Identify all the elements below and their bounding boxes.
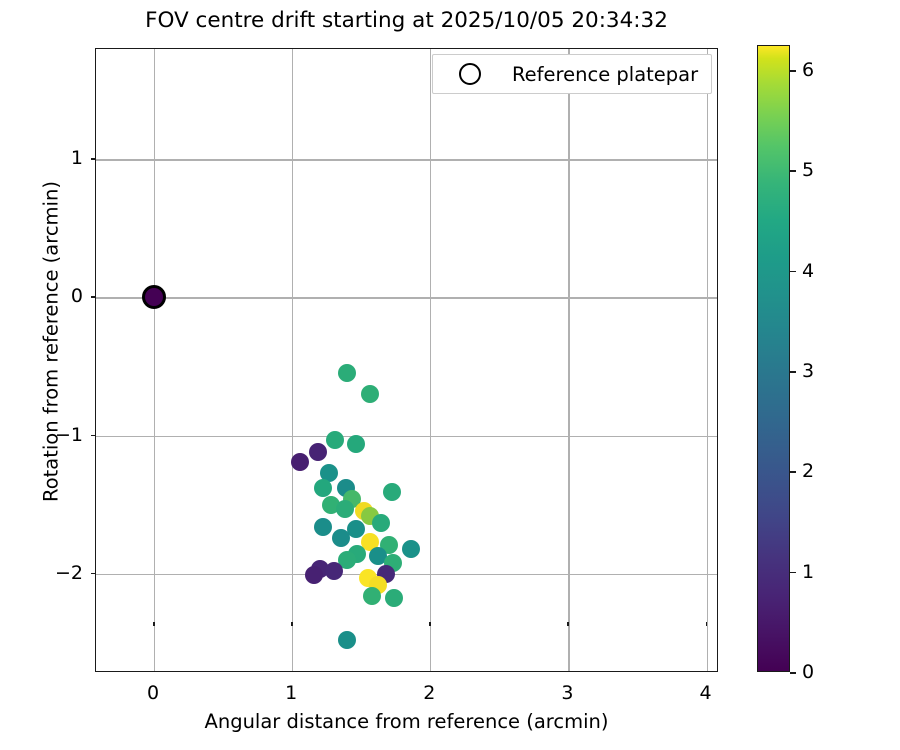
colorbar-tick-mark bbox=[790, 170, 796, 172]
chart-legend[interactable]: Reference platepar bbox=[432, 54, 712, 94]
x-tick-label: 0 bbox=[147, 682, 159, 704]
gridline-vertical bbox=[568, 49, 569, 671]
scatter-point bbox=[332, 529, 350, 547]
colorbar-tick-label: 3 bbox=[802, 360, 814, 382]
colorbar-tick-mark bbox=[790, 672, 796, 674]
chart-figure: FOV centre drift starting at 2025/10/05 … bbox=[0, 0, 900, 750]
scatter-point bbox=[338, 631, 356, 649]
x-tick-label: 2 bbox=[423, 682, 435, 704]
scatter-point bbox=[338, 364, 356, 382]
colorbar-tick-label: 1 bbox=[802, 561, 814, 583]
colorbar-tick-label: 4 bbox=[802, 260, 814, 282]
scatter-point bbox=[314, 479, 332, 497]
scatter-point bbox=[291, 453, 309, 471]
scatter-point bbox=[347, 435, 365, 453]
colorbar-tick-label: 5 bbox=[802, 159, 814, 181]
scatter-point bbox=[325, 562, 343, 580]
scatter-point bbox=[385, 589, 403, 607]
reference-platepar-marker-icon bbox=[459, 63, 481, 85]
chart-title: FOV centre drift starting at 2025/10/05 … bbox=[95, 8, 718, 33]
scatter-point bbox=[336, 500, 354, 518]
colorbar-tick-label: 6 bbox=[802, 59, 814, 81]
y-axis-label: Rotation from reference (arcmin) bbox=[40, 30, 63, 654]
gridline-vertical bbox=[430, 49, 431, 671]
scatter-point bbox=[314, 518, 332, 536]
colorbar-tick-mark bbox=[790, 70, 796, 72]
x-tick-mark bbox=[706, 622, 708, 626]
x-tick-mark bbox=[153, 622, 155, 626]
y-tick-mark bbox=[91, 573, 95, 575]
gridline-horizontal bbox=[96, 574, 717, 575]
scatter-point bbox=[363, 587, 381, 605]
colorbar-tick-mark bbox=[790, 271, 796, 273]
x-tick-label: 3 bbox=[561, 682, 573, 704]
colorbar-tick-mark bbox=[790, 471, 796, 473]
scatter-point bbox=[309, 443, 327, 461]
x-tick-label: 4 bbox=[700, 682, 712, 704]
reference-platepar-point bbox=[142, 285, 166, 309]
gridline-horizontal bbox=[96, 297, 717, 298]
y-tick-mark bbox=[91, 158, 95, 160]
colorbar-tick-label: 0 bbox=[802, 661, 814, 683]
gridline-horizontal bbox=[96, 159, 717, 160]
legend-entry-label: Reference platepar bbox=[512, 63, 698, 86]
colorbar-tick-label: 2 bbox=[802, 460, 814, 482]
colorbar: 0123456 bbox=[757, 45, 790, 672]
x-tick-label: 1 bbox=[285, 682, 297, 704]
scatter-point bbox=[305, 566, 323, 584]
scatter-point bbox=[402, 540, 420, 558]
x-tick-mark bbox=[429, 622, 431, 626]
colorbar-tick-mark bbox=[790, 572, 796, 574]
scatter-point bbox=[361, 385, 379, 403]
gridline-vertical bbox=[292, 49, 293, 671]
scatter-point bbox=[326, 431, 344, 449]
y-tick-mark bbox=[91, 296, 95, 298]
x-tick-mark bbox=[567, 622, 569, 626]
colorbar-tick-mark bbox=[790, 371, 796, 373]
gridline-vertical bbox=[707, 49, 708, 671]
scatter-point bbox=[372, 514, 390, 532]
plot-axes bbox=[95, 48, 718, 672]
x-axis-label: Angular distance from reference (arcmin) bbox=[95, 710, 718, 733]
gridline-vertical bbox=[154, 49, 155, 671]
gridline-horizontal bbox=[96, 436, 717, 437]
y-tick-mark bbox=[91, 435, 95, 437]
colorbar-gradient bbox=[757, 45, 790, 672]
x-tick-mark bbox=[291, 622, 293, 626]
scatter-point bbox=[383, 483, 401, 501]
